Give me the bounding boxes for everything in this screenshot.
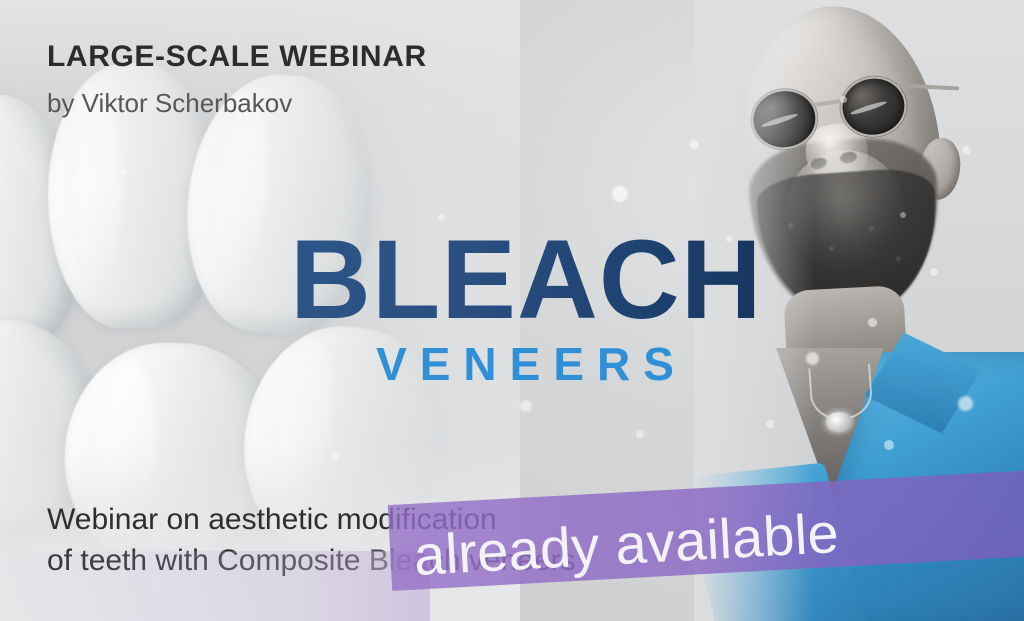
logo-wordmark-veneers: VENEERS xyxy=(290,337,760,391)
webinar-promo-banner: LARGE-SCALE WEBINAR by Viktor Scherbakov… xyxy=(0,0,1024,621)
bottom-purple-wash xyxy=(0,551,430,621)
webinar-kicker-title: LARGE-SCALE WEBINAR xyxy=(47,40,427,74)
bleach-veneers-logo: BLEACH VENEERS xyxy=(290,228,760,391)
sunglass-temple-arm xyxy=(897,83,959,90)
logo-wordmark-bleach: BLEACH xyxy=(290,228,760,331)
sunglass-bridge xyxy=(811,99,841,107)
speaker-byline: by Viktor Scherbakov xyxy=(47,88,292,119)
